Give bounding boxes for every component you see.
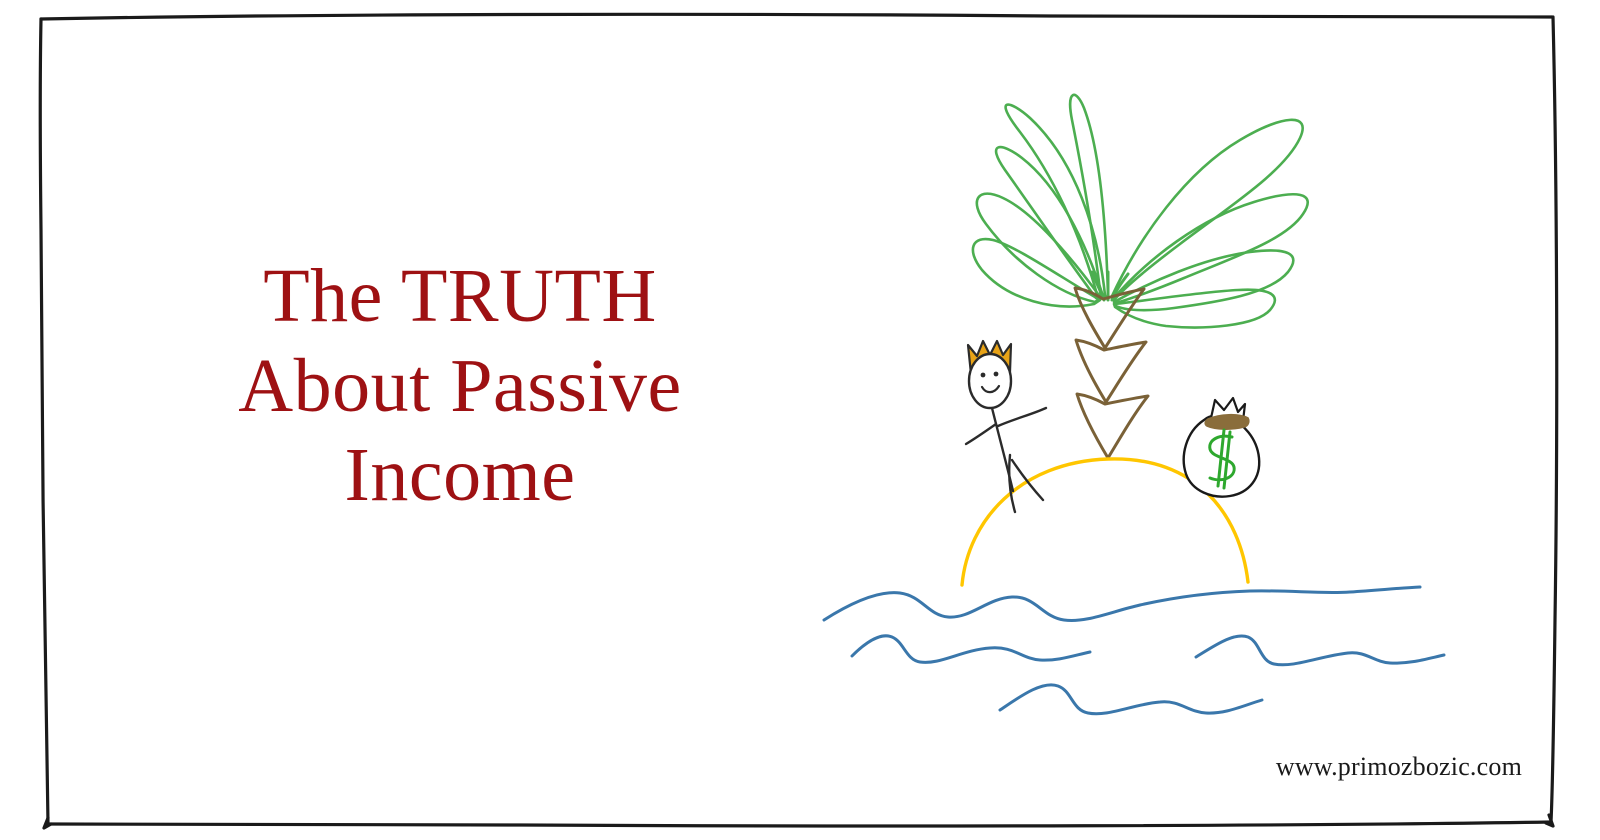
website-url[interactable]: www.primozbozic.com — [1276, 752, 1522, 782]
palm-frond-left-low — [973, 239, 1100, 306]
figure-eye-right — [994, 372, 999, 377]
page-title-line-2: About Passive — [150, 342, 770, 432]
palm-frond-right-tall — [1112, 120, 1303, 300]
crown-icon — [968, 341, 1011, 374]
palm-frond-right-low — [1114, 290, 1275, 328]
money-bag-neck — [1211, 398, 1245, 421]
ocean-wave-2 — [852, 636, 1090, 663]
slide-canvas: The TRUTH About Passive Income www.primo… — [0, 0, 1600, 840]
page-title-line-1: The TRUTH — [150, 252, 770, 342]
figure-head — [969, 354, 1011, 408]
palm-trunk-segment-3 — [1077, 394, 1148, 458]
palm-frond-left-tall — [1006, 105, 1105, 298]
page-title-line-3: Income — [150, 431, 770, 521]
sand-island-arc — [962, 459, 1248, 585]
palm-frond-center-tall — [1070, 95, 1108, 298]
ocean-waves-group — [824, 587, 1444, 714]
palm-trunk-group — [1075, 288, 1148, 458]
border-top-edge — [41, 14, 1552, 19]
border-corner-tick-bottom-right — [1546, 815, 1553, 826]
figure-torso — [992, 408, 1013, 491]
figure-arm-left-down — [966, 424, 996, 444]
palm-fronds-group — [973, 95, 1308, 328]
money-bag-dollar-sign — [1210, 430, 1234, 488]
page-title: The TRUTH About Passive Income — [150, 252, 770, 521]
figure-eye-left — [981, 373, 986, 378]
palm-trunk-segment-2 — [1076, 340, 1146, 402]
palm-frond-stems — [1092, 272, 1128, 300]
figure-arm-right-up — [998, 408, 1046, 426]
figure-leg-right — [1012, 460, 1043, 500]
palm-frond-right-mid — [1114, 250, 1293, 310]
border-bottom-edge — [48, 822, 1551, 826]
figure-smile — [982, 386, 999, 392]
sand-island — [962, 459, 1248, 585]
border-corner-tick-bottom-left — [44, 818, 51, 828]
ocean-wave-1 — [824, 587, 1420, 621]
ocean-wave-4 — [1000, 685, 1262, 714]
ocean-wave-3 — [1196, 636, 1444, 665]
palm-trunk-segment-1 — [1075, 288, 1144, 348]
money-bag-group — [1184, 398, 1259, 497]
money-bag-body — [1184, 415, 1259, 496]
money-bag-tie — [1205, 415, 1249, 429]
stick-figure-group — [966, 341, 1046, 512]
palm-frond-right-upper — [1113, 194, 1308, 303]
palm-frond-left-mid — [977, 194, 1101, 302]
figure-leg-left — [1009, 455, 1015, 512]
border-left-edge — [40, 19, 48, 824]
palm-stem-3 — [1112, 274, 1128, 300]
border-right-edge — [1551, 17, 1557, 822]
palm-frond-left-upper — [996, 147, 1103, 298]
palm-stem-1 — [1092, 272, 1104, 300]
